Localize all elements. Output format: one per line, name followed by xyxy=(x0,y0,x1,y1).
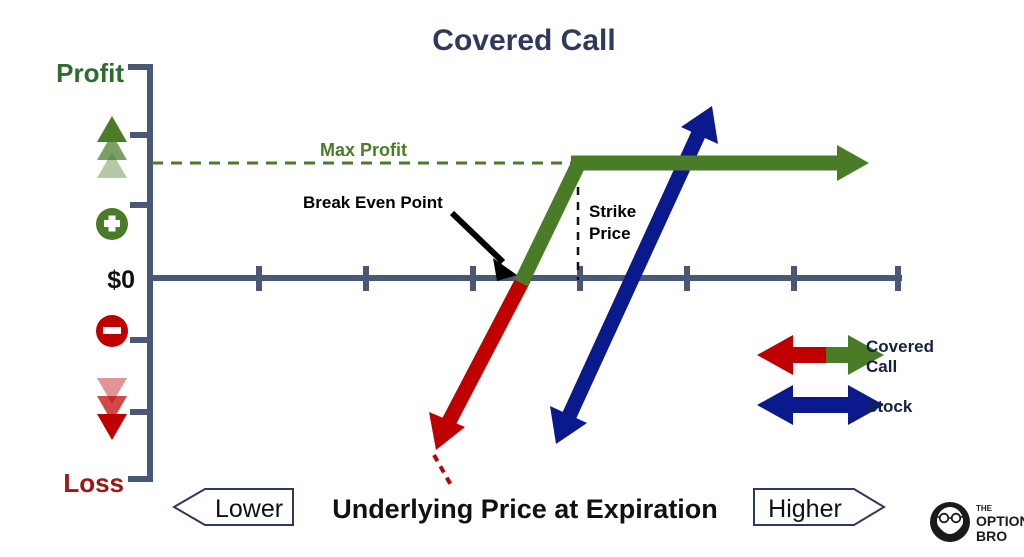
x-axis-label-lower: Lower xyxy=(215,495,283,523)
y-axis-label-profit: Profit xyxy=(56,58,124,88)
legend-bar-green xyxy=(826,347,849,363)
legend-label-covered-call-line2: Call xyxy=(866,357,897,376)
max-profit-label: Max Profit xyxy=(320,140,407,160)
logo-line-2: OPTIONS xyxy=(976,513,1024,529)
legend-label-stock: Stock xyxy=(866,397,913,416)
x-axis-right-banner: Higher xyxy=(754,489,884,525)
minus-circle-icon xyxy=(96,315,128,347)
plus-circle-icon xyxy=(96,208,128,240)
x-axis-label-higher: Higher xyxy=(768,495,842,523)
logo-line-1: THE xyxy=(976,504,993,513)
legend-label-covered-call-line1: Covered xyxy=(866,337,934,356)
bearded-face-icon xyxy=(930,502,970,542)
x-axis-title: Underlying Price at Expiration xyxy=(332,494,718,524)
y-axis-label-zero: $0 xyxy=(107,266,135,294)
y-axis-label-loss: Loss xyxy=(63,468,124,498)
strike-price-label-line2: Price xyxy=(589,224,631,243)
chart-title: Covered Call xyxy=(432,24,615,57)
strike-price-label-line1: Strike xyxy=(589,202,636,221)
legend-bar-red xyxy=(790,347,828,363)
break-even-label: Break Even Point xyxy=(303,193,443,212)
legend-bar-navy xyxy=(790,397,849,413)
logo-line-3: BRO xyxy=(976,528,1007,544)
covered-call-payoff-diagram: Covered Call Profit $0 Loss xyxy=(0,0,1024,557)
